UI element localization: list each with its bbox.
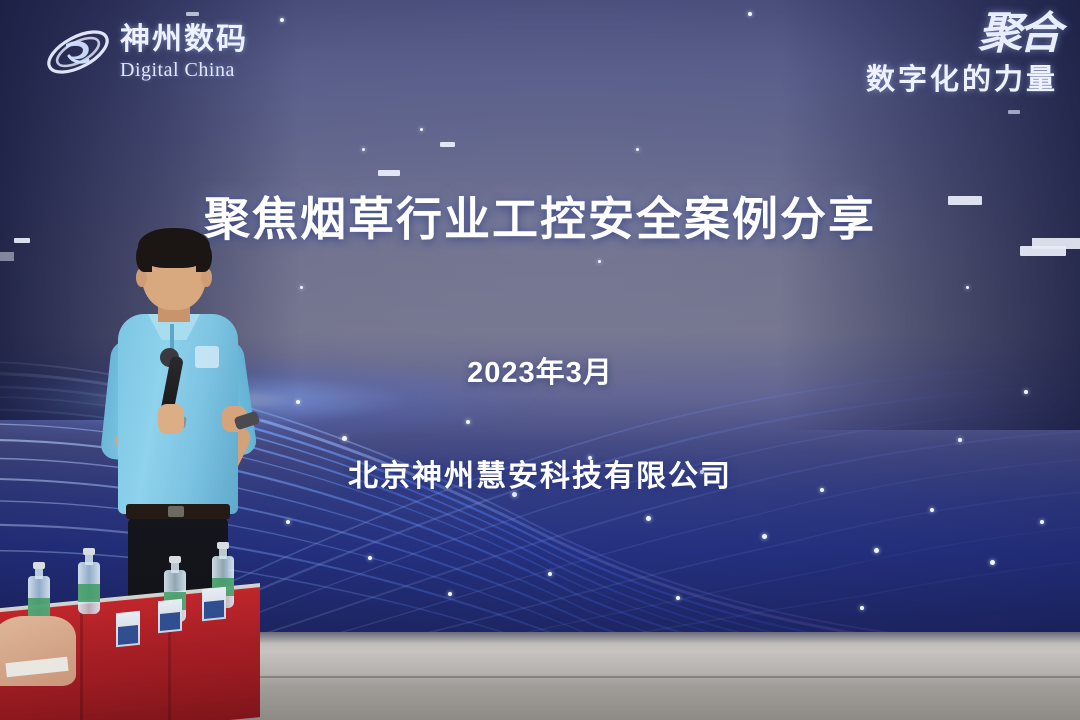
name-card (202, 587, 226, 622)
event-tagline: 数字化的力量 (866, 56, 1058, 98)
wall-trim-left (0, 252, 14, 261)
event-logo: 聚合 数字化的力量 (866, 14, 1058, 98)
name-card (116, 611, 140, 648)
shirt-logo-badge (195, 346, 219, 368)
logo-name-en: Digital China (120, 60, 248, 80)
name-card (158, 599, 182, 634)
digital-china-logo: 神州数码 Digital China (42, 22, 248, 82)
speaker-left-hand (158, 404, 184, 434)
event-calligraphy: 聚合 (866, 14, 1058, 54)
speaker-hair-side-left (136, 242, 152, 272)
belt-buckle (168, 506, 184, 517)
spiral-galaxy-icon (42, 22, 114, 82)
conference-photo: 神州数码 Digital China 聚合 数字化的力量 聚焦烟草行业工控安全案… (0, 0, 1080, 720)
logo-name-cn: 神州数码 (120, 25, 248, 55)
table-cloth-fold (80, 604, 83, 720)
speaker-hair-side-right (196, 242, 212, 272)
